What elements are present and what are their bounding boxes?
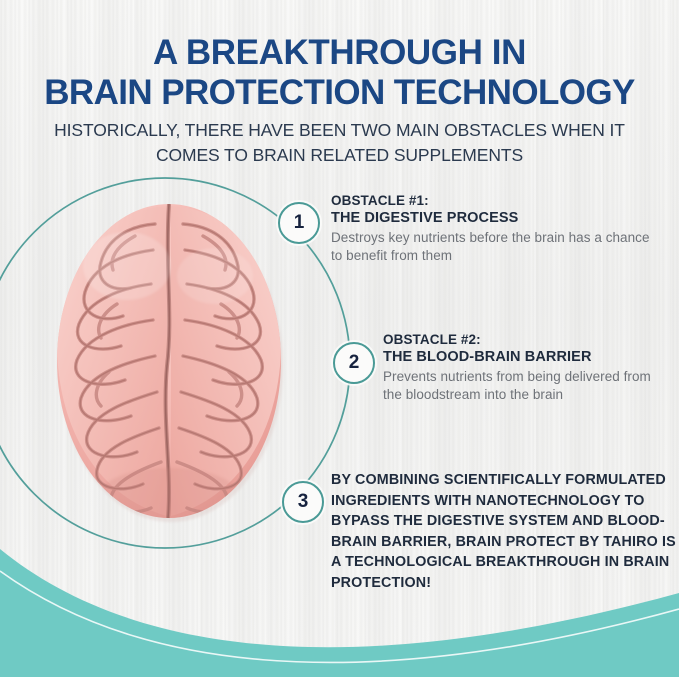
obstacle-1-block: OBSTACLE #1: THE DIGESTIVE PROCESS Destr… bbox=[331, 192, 661, 265]
footer-wave bbox=[0, 497, 679, 677]
obstacle-2-block: OBSTACLE #2: THE BLOOD-BRAIN BARRIER Pre… bbox=[383, 331, 673, 404]
obstacle-2-body: Prevents nutrients from being delivered … bbox=[383, 368, 673, 404]
brain-illustration bbox=[35, 196, 303, 526]
brain-image bbox=[35, 196, 303, 526]
obstacle-1-body: Destroys key nutrients before the brain … bbox=[331, 229, 661, 265]
infographic-poster: A BREAKTHROUGH IN BRAIN PROTECTION TECHN… bbox=[0, 0, 679, 677]
obstacle-2-title: THE BLOOD-BRAIN BARRIER bbox=[383, 348, 673, 367]
step-badge-2: 2 bbox=[333, 342, 375, 384]
step-badge-1-number: 1 bbox=[294, 212, 305, 234]
obstacle-1-kicker: OBSTACLE #1: bbox=[331, 192, 661, 209]
obstacle-2-kicker: OBSTACLE #2: bbox=[383, 331, 673, 348]
obstacle-1-title: THE DIGESTIVE PROCESS bbox=[331, 209, 661, 228]
step-badge-1: 1 bbox=[278, 202, 320, 244]
step-badge-2-number: 2 bbox=[349, 352, 360, 374]
